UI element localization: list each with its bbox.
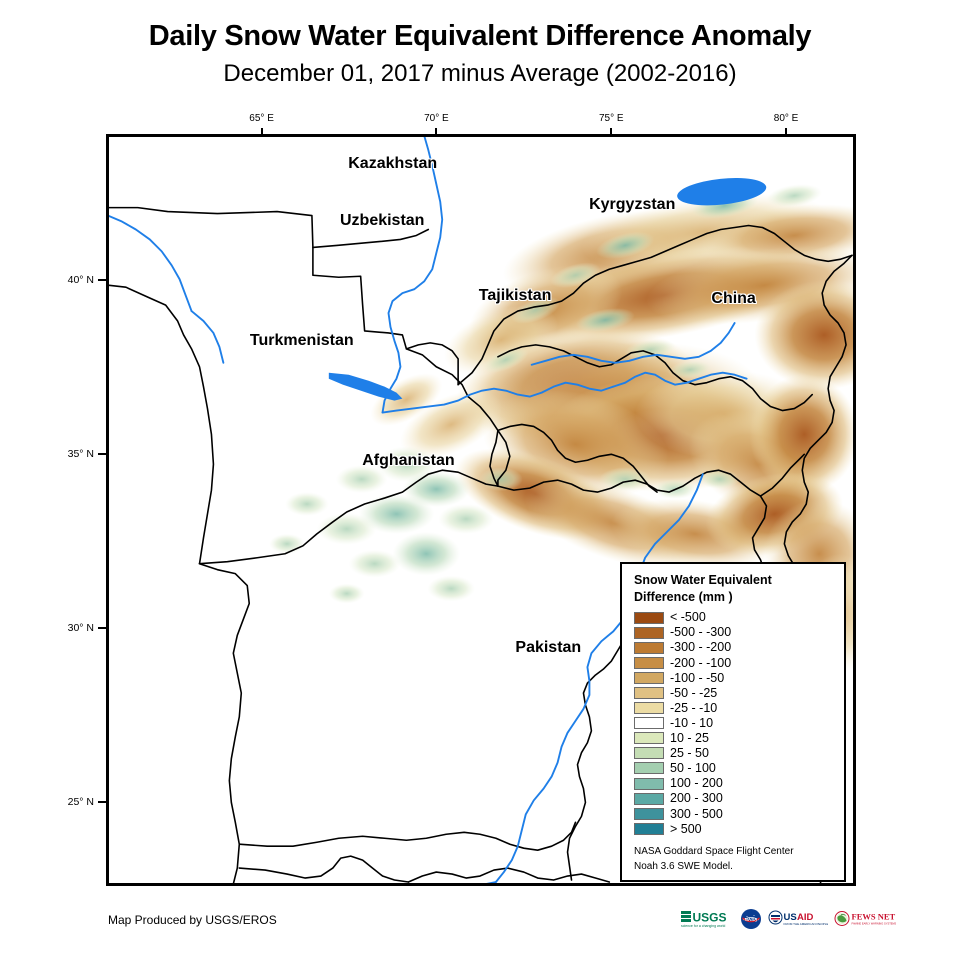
legend-swatch — [634, 642, 664, 654]
legend-credit: NASA Goddard Space Flight Center Noah 3.… — [634, 845, 836, 874]
fews-net-logo[interactable]: FEWS NET FAMINE EARLY WARNING SYSTEMS NE… — [834, 908, 896, 930]
usgs-logo[interactable]: USGS science for a changing world — [680, 908, 734, 930]
legend-label: -25 - -10 — [670, 702, 717, 715]
legend-row: -300 - -200 — [634, 640, 836, 655]
legend-row: > 500 — [634, 821, 836, 836]
lat-tick — [98, 801, 106, 803]
svg-text:FAMINE EARLY WARNING SYSTEMS N: FAMINE EARLY WARNING SYSTEMS NETWORK — [852, 922, 897, 926]
legend-swatch — [634, 778, 664, 790]
lat-tick — [98, 279, 106, 281]
legend-swatch — [634, 732, 664, 744]
footer-credit: Map Produced by USGS/EROS — [108, 913, 277, 927]
legend-row: -50 - -25 — [634, 685, 836, 700]
legend-label: 25 - 50 — [670, 747, 709, 760]
lat-tick — [98, 627, 106, 629]
lat-label: 40° N — [62, 274, 94, 286]
lon-tick — [610, 128, 612, 136]
legend-label: 200 - 300 — [670, 792, 723, 805]
svg-text:USGS: USGS — [693, 911, 727, 925]
svg-text:AID: AID — [797, 912, 814, 923]
legend-label: 50 - 100 — [670, 762, 716, 775]
legend-label: -300 - -200 — [670, 641, 731, 654]
legend-swatch — [634, 823, 664, 835]
legend-label: -100 - -50 — [670, 672, 724, 685]
legend-label: > 500 — [670, 823, 702, 836]
svg-text:science for a changing world: science for a changing world — [681, 924, 725, 928]
lat-tick — [98, 453, 106, 455]
legend-label: -50 - -25 — [670, 687, 717, 700]
legend-row: 25 - 50 — [634, 746, 836, 761]
legend-swatch — [634, 612, 664, 624]
page-subtitle: December 01, 2017 minus Average (2002-20… — [0, 60, 960, 89]
legend-swatch — [634, 702, 664, 714]
lon-tick — [261, 128, 263, 136]
lon-label: 75° E — [599, 113, 624, 124]
legend-entries: < -500-500 - -300-300 - -200-200 - -100-… — [634, 610, 836, 836]
legend-row: -25 - -10 — [634, 701, 836, 716]
legend-swatch — [634, 793, 664, 805]
legend-swatch — [634, 687, 664, 699]
lon-label: 70° E — [424, 113, 449, 124]
legend-label: -10 - 10 — [670, 717, 713, 730]
svg-text:FEWS NET: FEWS NET — [852, 912, 896, 922]
logo-strip: USGS science for a changing world NASA U… — [680, 908, 896, 930]
legend-row: < -500 — [634, 610, 836, 625]
nasa-logo[interactable]: NASA — [740, 908, 762, 930]
legend-row: -10 - 10 — [634, 716, 836, 731]
legend-label: 10 - 25 — [670, 732, 709, 745]
legend-swatch — [634, 762, 664, 774]
legend-swatch — [634, 747, 664, 759]
legend-swatch — [634, 717, 664, 729]
lon-label: 65° E — [249, 113, 274, 124]
svg-text:NASA: NASA — [745, 917, 759, 922]
lon-label: 80° E — [774, 113, 799, 124]
legend-row: -100 - -50 — [634, 670, 836, 685]
legend-label: -500 - -300 — [670, 626, 731, 639]
legend-swatch — [634, 808, 664, 820]
legend: Snow Water Equivalent Difference (mm ) <… — [620, 562, 846, 882]
lat-label: 35° N — [62, 448, 94, 460]
legend-row: 50 - 100 — [634, 761, 836, 776]
legend-swatch — [634, 627, 664, 639]
legend-label: 100 - 200 — [670, 777, 723, 790]
legend-label: 300 - 500 — [670, 808, 723, 821]
svg-text:FROM THE AMERICAN PEOPLE: FROM THE AMERICAN PEOPLE — [784, 922, 829, 926]
lon-tick — [435, 128, 437, 136]
lat-label: 30° N — [62, 622, 94, 634]
legend-row: -200 - -100 — [634, 655, 836, 670]
legend-label: < -500 — [670, 611, 706, 624]
page-title: Daily Snow Water Equivalent Difference A… — [0, 20, 960, 52]
legend-title: Snow Water Equivalent Difference (mm ) — [634, 572, 836, 605]
legend-row: 200 - 300 — [634, 791, 836, 806]
legend-swatch — [634, 672, 664, 684]
svg-text:US: US — [784, 912, 797, 923]
legend-row: -500 - -300 — [634, 625, 836, 640]
lon-tick — [785, 128, 787, 136]
legend-row: 100 - 200 — [634, 776, 836, 791]
lat-label: 25° N — [62, 796, 94, 808]
legend-row: 300 - 500 — [634, 806, 836, 821]
title-block: Daily Snow Water Equivalent Difference A… — [0, 20, 960, 89]
legend-label: -200 - -100 — [670, 657, 731, 670]
legend-swatch — [634, 657, 664, 669]
legend-row: 10 - 25 — [634, 731, 836, 746]
usaid-logo[interactable]: US AID FROM THE AMERICAN PEOPLE — [768, 908, 828, 930]
